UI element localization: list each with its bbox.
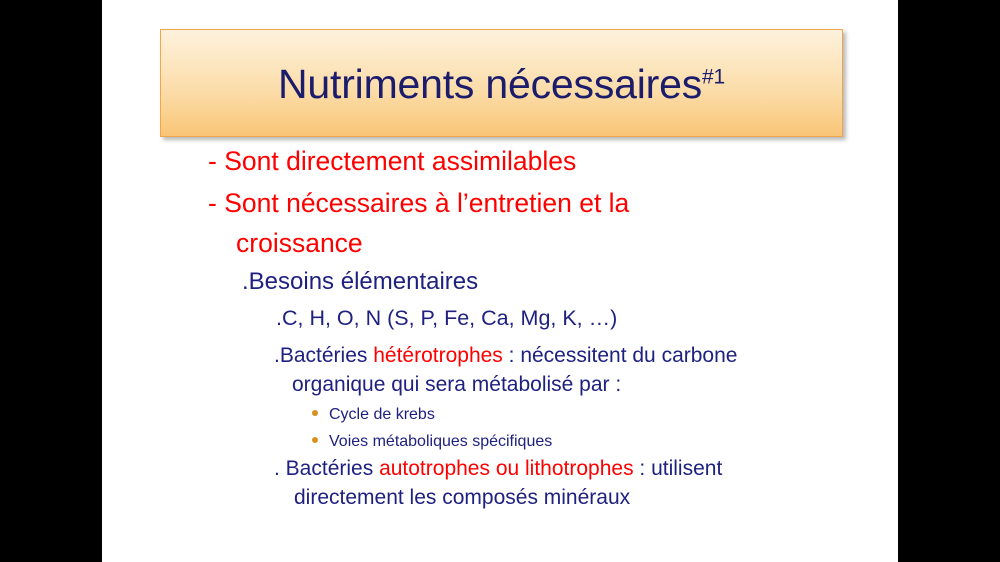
slide-canvas: Nutriments nécessaires#1 - Sont directem… [102,0,898,562]
bullet-heterotrophes-line2: organique qui sera métabolisé par : [292,374,621,395]
page-title-superscript: #1 [702,65,725,88]
bullet-text-1: Sont directement assimilables [224,146,576,176]
heterotrophes-tail: : nécessitent du carbone [503,344,738,367]
bullet-text-2-cont: croissance [236,228,363,258]
list-item: Voies métaboliques spécifiques [312,434,552,450]
bullet-dot-icon [312,437,318,443]
sub-bullet-text-2: Voies métaboliques spécifiques [329,433,552,450]
bullet-text-elements: C, H, O, N (S, P, Fe, Ca, Mg, K, …) [282,306,617,330]
bullet-dash-1: - [208,146,217,176]
bullet-text-2: Sont nécessaires à l’entretien et la [224,188,629,218]
bullet-besoins-elementaires: .Besoins élémentaires [242,270,478,294]
bullet-autotrophes-line2: directement les composés minéraux [294,487,630,508]
heterotrophes-highlight: hétérotrophes [373,344,503,367]
autotrophes-line2-text: directement les composés minéraux [294,486,630,509]
bullet-line-1: - Sont directement assimilables [208,148,576,175]
heterotrophes-line2-text: organique qui sera métabolisé par : [292,373,621,396]
slide-stage: Nutriments nécessaires#1 - Sont directem… [0,0,1000,562]
bullet-line-2-continuation: croissance [236,230,363,257]
title-banner: Nutriments nécessaires#1 [160,29,843,137]
autotrophes-highlight: autotrophes ou lithotrophes [379,457,634,480]
bullet-dash-2: - [208,188,217,218]
bullet-autotrophes-line1: . Bactéries autotrophes ou lithotrophes … [274,458,722,479]
heterotrophes-lead: Bactéries [280,344,373,367]
bullet-marker-besoins: . [242,268,249,295]
page-title: Nutriments nécessaires#1 [278,64,725,105]
bullet-line-2: - Sont nécessaires à l’entretien et la [208,190,629,217]
bullet-heterotrophes-line1: .Bactéries hétérotrophes : nécessitent d… [274,345,737,366]
bullet-elements-list: .C, H, O, N (S, P, Fe, Ca, Mg, K, …) [276,308,617,330]
page-title-main: Nutriments nécessaires [278,61,702,107]
list-item: Cycle de krebs [312,407,435,423]
bullet-dot-icon [312,410,318,416]
autotrophes-tail: : utilisent [634,457,723,480]
sub-bullet-text-1: Cycle de krebs [329,406,435,423]
bullet-text-besoins: Besoins élémentaires [249,268,478,295]
autotrophes-lead: Bactéries [280,457,379,480]
